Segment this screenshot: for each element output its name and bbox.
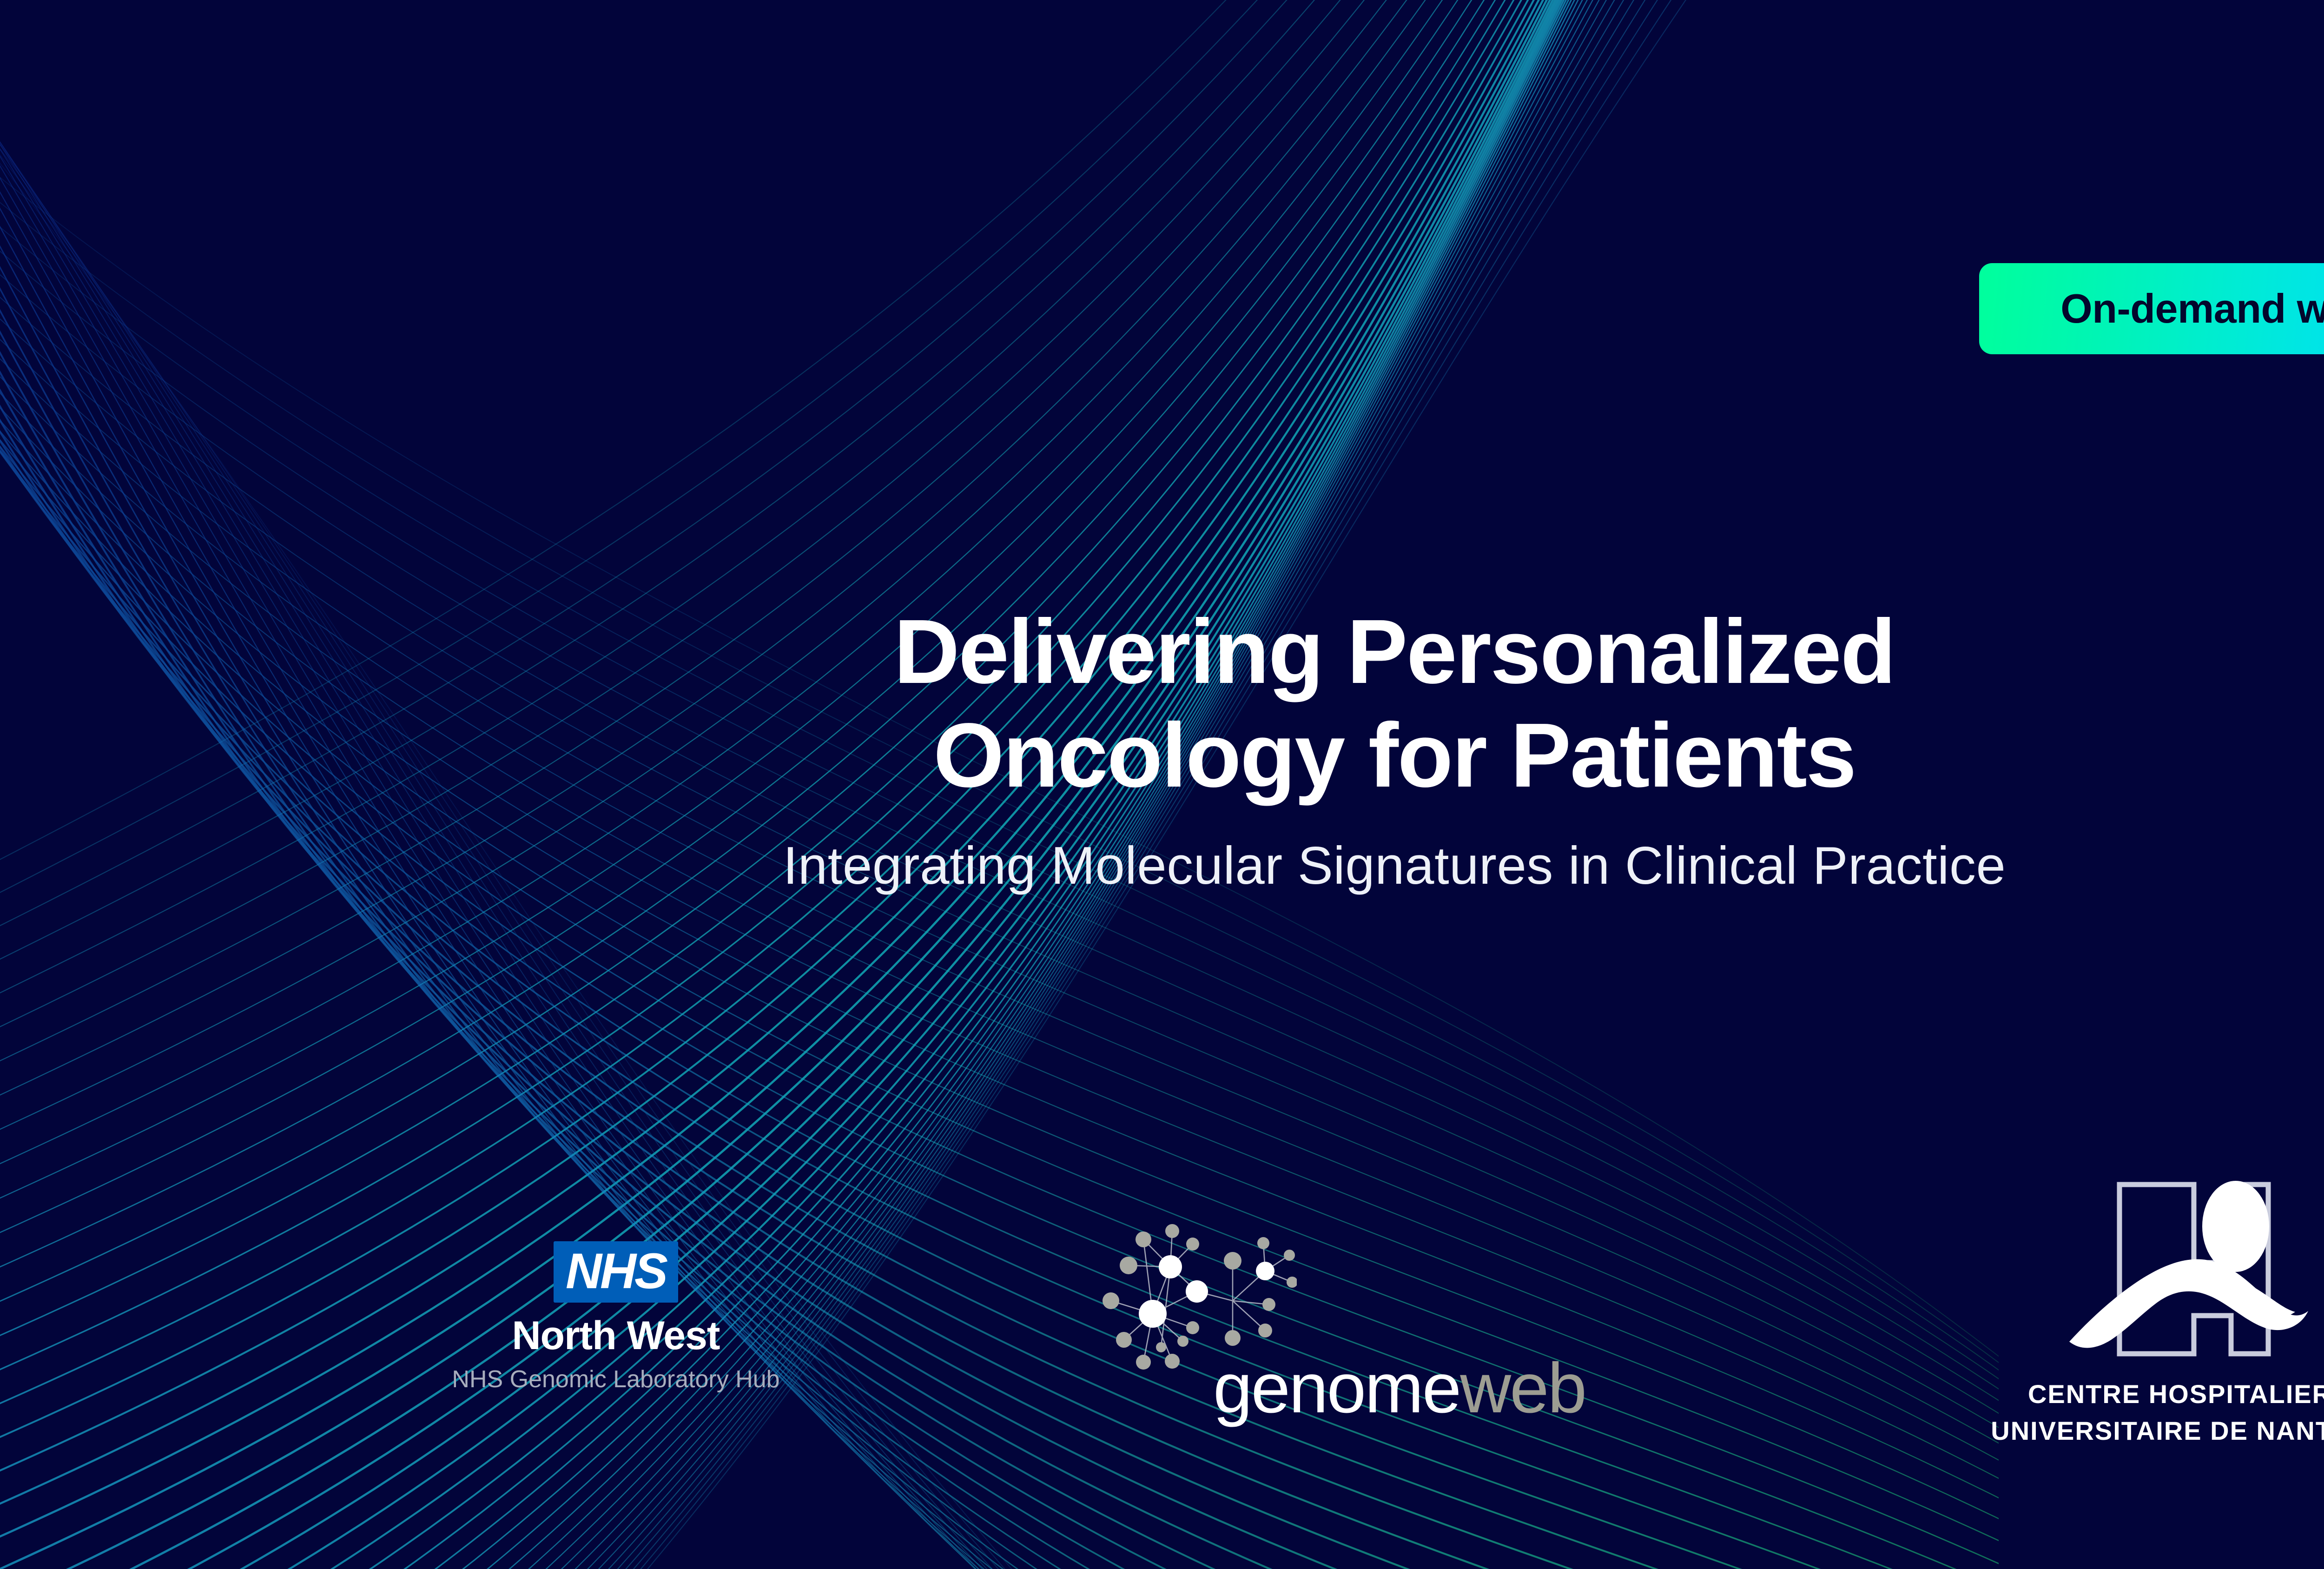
nhs-logo-mark: NHS — [554, 1241, 678, 1303]
genomeweb-wordmark: genomeweb — [1213, 1353, 1585, 1423]
genomeweb-word-secondary: web — [1460, 1349, 1585, 1428]
badge-label: On-demand webinar — [2060, 285, 2324, 332]
page-title-line-2: Oncology for Patients — [0, 703, 2324, 807]
logo-nhs-north-west: NHS North West NHS Genomic Laboratory Hu… — [353, 1241, 878, 1393]
on-demand-webinar-badge[interactable]: On-demand webinar — [1979, 263, 2324, 354]
chu-nantes-line-2: UNIVERSITAIRE DE NANTES — [1906, 1416, 2324, 1446]
nhs-region-label: North West — [353, 1313, 878, 1359]
nhs-subtitle-label: NHS Genomic Laboratory Hub — [353, 1365, 878, 1393]
headline-block: Delivering Personalized Oncology for Pat… — [0, 600, 2324, 896]
genomeweb-word-primary: genome — [1213, 1349, 1460, 1428]
chu-nantes-line-1: CENTRE HOSPITALIER — [1906, 1379, 2324, 1409]
webinar-promo-banner: On-demand webinar Delivering Personalize… — [0, 0, 2324, 1569]
logo-chu-nantes: CENTRE HOSPITALIER UNIVERSITAIRE DE NANT… — [1906, 1172, 2324, 1446]
page-title-line-1: Delivering Personalized — [0, 600, 2324, 703]
chu-nantes-h-figure-icon — [1906, 1172, 2324, 1367]
nhs-logo-text: NHS — [566, 1243, 666, 1299]
partner-logo-strip: NHS North West NHS Genomic Laboratory Hu… — [0, 1172, 2324, 1497]
page-subtitle: Integrating Molecular Signatures in Clin… — [0, 835, 2324, 896]
